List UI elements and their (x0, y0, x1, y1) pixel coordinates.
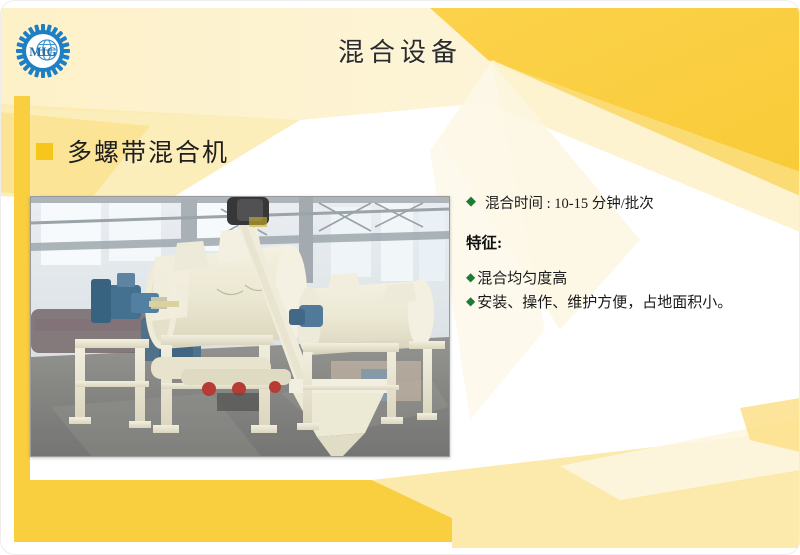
bottom-right-gold-tip (740, 398, 800, 452)
diamond-bullet-icon: ◆ (466, 194, 476, 207)
feature-label-2: 安装、操作、维护方便，占地面积小。 (477, 293, 732, 315)
mix-time-row: ◆ 混合时间 : 10-15 分钟/批次 (466, 192, 786, 213)
square-bullet-icon (36, 143, 53, 160)
slide-canvas: MIG 混合设备 多螺带混合机 (0, 0, 800, 555)
specs-panel: ◆ 混合时间 : 10-15 分钟/批次 特征: ◆ 混合均匀度高 ◆ 安装、操… (466, 192, 786, 317)
section-subtitle: 多螺带混合机 (36, 133, 229, 169)
features-heading: 特征: (466, 231, 786, 253)
bottom-gold-band (14, 480, 452, 542)
feature-row-1: ◆ 混合均匀度高 (466, 269, 786, 291)
left-gold-strip-top (14, 96, 30, 128)
diamond-bullet-icon: ◆ (466, 295, 475, 307)
diamond-bullet-icon: ◆ (466, 271, 475, 283)
section-subtitle-label: 多螺带混合机 (67, 133, 229, 169)
mix-time-label: 混合时间 : 10-15 分钟/批次 (485, 192, 654, 213)
feature-row-2: ◆ 安装、操作、维护方便，占地面积小。 (466, 293, 786, 315)
page-title: 混合设备 (0, 32, 800, 69)
product-photo (30, 196, 450, 457)
ribbon-mixer-photo-illustration (31, 197, 449, 456)
bottom-right-pale-wedge (560, 418, 800, 500)
slide-header: MIG 混合设备 (0, 0, 800, 100)
left-gold-strip (14, 96, 30, 516)
feature-label-1: 混合均匀度高 (477, 269, 567, 291)
